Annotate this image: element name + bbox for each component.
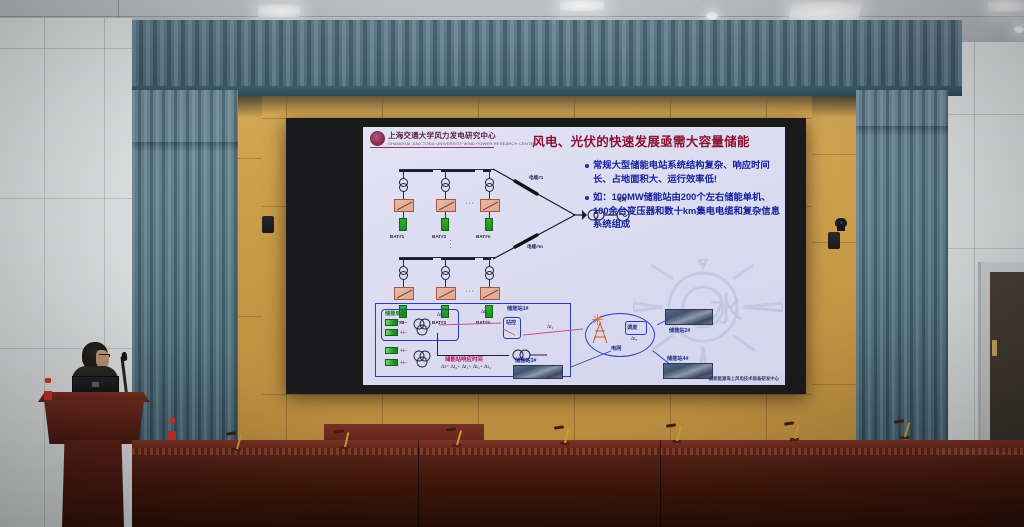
table-seam [418,440,419,527]
conference-table-top [132,440,1024,448]
curtain-fold [888,20,892,90]
curtain-fold [699,20,703,90]
curtain-fold [713,20,717,90]
curtain-left [132,90,238,445]
curtain-right [856,90,948,445]
curtain-fold [741,20,745,90]
curtain-fold [489,20,493,90]
curtain-fold [944,20,948,90]
ceiling-light [560,0,604,11]
unit-transformer [411,349,435,369]
curtain-fold [664,20,668,90]
curtain-fold [531,20,535,90]
curtain-fold [904,90,907,445]
curtain-fold [138,90,141,445]
curtain-fold [846,20,850,90]
curtain-fold [874,20,878,90]
camera-lens-icon [839,220,844,225]
curtain-fold [209,20,213,90]
curtain-fold [244,20,248,90]
curtain-fold [874,90,877,445]
curtain-fold [946,90,948,445]
curtain-fold [279,20,283,90]
slide-footer: 国家能源海上风电技术装备研发中心 [709,376,779,382]
curtain-fold [419,20,423,90]
wall-camera [834,218,848,232]
presenter-glasses [99,354,110,357]
response-formula: Δt= Δt₀+ Δt₁+ Δt₂+ Δt₃ [441,364,491,370]
curtain-fold [868,90,871,445]
curtain-fold [234,90,237,445]
curtain-fold [811,20,815,90]
curtain-fold [454,20,458,90]
bullet-dot-icon [585,164,589,168]
curtain-fold [216,90,219,445]
table-seam [660,440,661,527]
bullet-text: 如：100MW储能站由200个左右储能单机、100余台变压器和数十km集电电缆和… [593,191,781,232]
curtain-fold [181,20,185,90]
curtain-fold [426,20,430,90]
curtain-fold [192,90,195,445]
sjtu-seal-icon [370,131,385,146]
curtain-fold [132,20,136,90]
bullet-text: 常规大型储能电站系统结构复杂、响应时间长、占地面积大、运行效率低! [593,159,781,186]
ceiling-light [988,0,1024,12]
curtain-fold [734,20,738,90]
curtain-fold [139,20,143,90]
curtain-fold [622,20,626,90]
curtain-fold [517,20,521,90]
conference-table-molding [132,448,1024,455]
curtain-fold [825,20,829,90]
curtain-fold [186,90,189,445]
curtain-fold [783,20,787,90]
curtain-fold [545,20,549,90]
slide-title: 风电、光伏的快速发展亟需大容量储能 [503,131,779,150]
curtain-fold [293,20,297,90]
wall-speaker [828,232,840,249]
curtain-fold [440,20,444,90]
curtain-fold [216,20,220,90]
curtain-fold [867,20,871,90]
curtain-fold [300,20,304,90]
curtain-fold [538,20,542,90]
door-handle[interactable] [992,340,997,356]
curtain-fold [314,20,318,90]
water-bottle[interactable] [44,382,52,404]
curtain-fold [272,20,276,90]
curtain-fold [916,20,920,90]
curtain-fold [398,20,402,90]
curtain-fold [482,20,486,90]
curtain-fold [496,20,500,90]
curtain-fold [860,20,864,90]
curtain-fold [937,20,941,90]
tower-structure [589,321,611,345]
diagram-single-line: BAT#1 BAT#2 ··· BAT#n ··· [377,159,577,304]
curtain-fold [880,90,883,445]
cable-label: 电缆#m [527,244,543,250]
curtain-fold [204,90,207,445]
curtain-fold [902,20,906,90]
bullet-item: 如：100MW储能站由200个左右储能单机、100余台变压器和数十km集电电缆和… [585,191,781,232]
curtain-fold [251,20,255,90]
curtain-fold [898,90,901,445]
curtain-fold [503,20,507,90]
curtain-fold [839,20,843,90]
curtain-fold [951,20,955,90]
bullet-dot-icon [585,196,589,200]
bullet-item: 常规大型储能电站系统结构复杂、响应时间长、占地面积大、运行效率低! [585,159,781,186]
curtain-fold [818,20,822,90]
curtain-fold [856,90,859,445]
curtain-fold [587,20,591,90]
curtain-fold [916,90,919,445]
station-photo [513,365,563,379]
curtain-fold [180,90,183,445]
curtain-fold [174,20,178,90]
curtain-fold [223,20,227,90]
lecture-hall-scene: 水 上海交通大学风力发电研究中心 SHANGHAI JIAO TONG UNIV… [0,0,1024,527]
valance-hem [132,86,962,96]
podium-body [41,400,147,444]
curtain-fold [433,20,437,90]
curtain-fold [210,90,213,445]
curtain-fold [692,20,696,90]
slide-bullets: 常规大型储能电站系统结构复杂、响应时间长、占地面积大、运行效率低! 如：100M… [585,159,781,237]
ellipsis: ··· [465,200,475,207]
curtain-fold [671,20,675,90]
ceiling-downlight [1014,26,1024,33]
curtain-fold [580,20,584,90]
ceiling-light [788,2,863,22]
curtain-fold [222,90,225,445]
curtain-fold [804,20,808,90]
curtain-fold [160,20,164,90]
curtain-fold [629,20,633,90]
curtain-fold [447,20,451,90]
curtain-fold [328,20,332,90]
curtain-fold [510,20,514,90]
curtain-fold [174,90,177,445]
curtain-fold [228,90,231,445]
conference-table-front [132,455,1024,527]
curtain-fold [643,20,647,90]
curtain-fold [769,20,773,90]
wall-speaker [262,216,274,233]
curtain-fold [755,20,759,90]
battery-label: BAT#1 [390,234,404,239]
curtain-fold [237,20,241,90]
station-label: 储能站1# [507,305,528,312]
curtain-fold [195,20,199,90]
curtain-fold [727,20,731,90]
curtain-fold [928,90,931,445]
curtain-fold [468,20,472,90]
curtain-fold [363,20,367,90]
curtain-fold [573,20,577,90]
curtain-fold [405,20,409,90]
curtain-fold [153,20,157,90]
curtain-fold [342,20,346,90]
curtain-fold [198,90,201,445]
curtain-fold [461,20,465,90]
curtain-fold [892,90,895,445]
curtain-fold [720,20,724,90]
curtain-fold [594,20,598,90]
curtain-fold [552,20,556,90]
curtain-fold [156,90,159,445]
curtain-fold [706,20,710,90]
curtain-fold [958,20,962,90]
curtain-fold [559,20,563,90]
podium-stem [62,440,124,527]
cable-label: 电缆#1 [529,175,543,181]
response-title: 储能站响应时间 [445,355,483,363]
curtain-fold [832,20,836,90]
curtain-fold [923,20,927,90]
presentation-slide: 水 上海交通大学风力发电研究中心 SHANGHAI JIAO TONG UNIV… [363,127,785,385]
curtain-fold [144,90,147,445]
curtain-fold [370,20,374,90]
curtain-fold [146,20,150,90]
curtain-fold [356,20,360,90]
curtain-fold [797,20,801,90]
ceiling-light [258,4,300,17]
curtain-fold [202,20,206,90]
curtain-fold [678,20,682,90]
curtain-fold [748,20,752,90]
diagram-response-time: 储能站1# 储能单元 +⊢ +⊢ +⊢ +⊢ Δt₃ [375,299,779,379]
curtain-fold [909,20,913,90]
wood-wall-left-strip [236,92,262,444]
curtain-fold [881,20,885,90]
curtain-fold [608,20,612,90]
door-panel[interactable] [990,272,1024,452]
curtain-fold [377,20,381,90]
curtain-fold [150,90,153,445]
storage-unit-label: 储能单元 [385,310,406,317]
curtain-fold [412,20,416,90]
curtain-fold [349,20,353,90]
curtain-fold [862,90,865,445]
curtain-fold [475,20,479,90]
curtain-fold [168,90,171,445]
curtain-fold [853,20,857,90]
curtain-fold [307,20,311,90]
curtain-fold [335,20,339,90]
curtain-fold [776,20,780,90]
curtain-fold [524,20,528,90]
curtain-fold [265,20,269,90]
curtain-fold [940,90,943,445]
station-photo-label: 储能站3# [515,357,536,364]
curtain-fold [657,20,661,90]
curtain-fold [636,20,640,90]
curtain-fold [286,20,290,90]
battery-label: BAT#2 [432,234,446,239]
curtain-fold [132,90,135,445]
curtain-fold [762,20,766,90]
ceiling-downlight [706,12,718,20]
curtain-fold [930,20,934,90]
slide-header: 上海交通大学风力发电研究中心 SHANGHAI JIAO TONG UNIVER… [363,127,785,153]
grid-links [613,317,723,381]
curtain-fold [230,20,234,90]
curtain-fold [391,20,395,90]
podium-microphone-head [121,352,127,362]
curtain-fold [188,20,192,90]
curtain-fold [321,20,325,90]
curtain-fold [615,20,619,90]
curtain-fold [895,20,899,90]
curtain-fold [650,20,654,90]
laptop-logo [92,382,99,387]
curtain-fold [922,90,925,445]
header-rule [370,147,494,148]
curtain-fold [601,20,605,90]
curtain-fold [162,90,165,445]
curtain-fold [258,20,262,90]
curtain-fold [886,90,889,445]
curtain-fold [790,20,794,90]
curtain-fold [566,20,570,90]
curtain-fold [910,90,913,445]
curtain-valance [132,20,962,90]
curtain-fold [384,20,388,90]
unit-transformer [411,317,435,337]
curtain-fold [685,20,689,90]
curtain-fold [934,90,937,445]
curtain-fold [167,20,171,90]
